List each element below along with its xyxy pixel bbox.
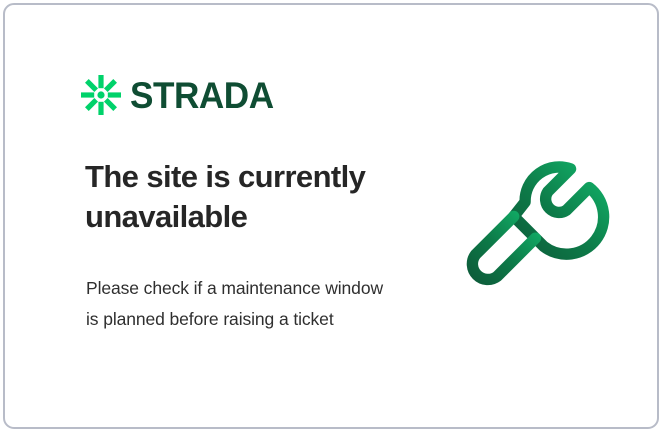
page-title: The site is currently unavailable: [85, 157, 415, 238]
page-description: Please check if a maintenance window is …: [86, 273, 386, 335]
brand-lockup: STRADA: [81, 75, 281, 115]
status-card: STRADA The site is currently unavailable…: [3, 3, 659, 429]
brand-name: STRADA: [130, 77, 274, 114]
asterisk-starburst-icon: [81, 75, 121, 115]
wrench-icon: [460, 151, 615, 317]
